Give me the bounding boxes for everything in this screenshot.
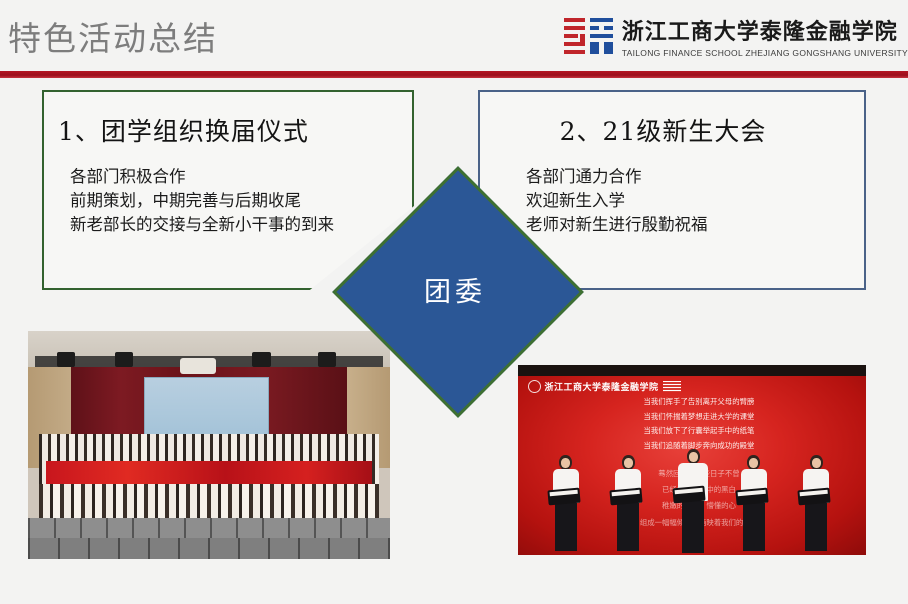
logo-text: 浙江工商大学泰隆金融学院 TAILONG FINANCE SCHOOL ZHEJ…: [622, 14, 908, 58]
projector: [180, 358, 216, 374]
box-2-line-3: 老师对新生进行殷勤祝福: [526, 213, 708, 237]
performer: [553, 455, 579, 551]
photo-group-ceremony: [28, 331, 390, 559]
page-title: 特色活动总结: [8, 12, 218, 60]
logo-mark-icon: [563, 14, 615, 58]
backdrop-poem: 当我们挥手了告别离开父母的臂膀 当我们怀揣着梦想走进大学的课堂 当我们放下了行囊…: [574, 395, 825, 453]
stage-lamp: [57, 352, 75, 368]
box-2-heading: 2、21级新生大会: [478, 112, 848, 148]
box-2-line-1: 各部门通力合作: [526, 165, 708, 189]
content-box-1-text: 1、团学组织换届仪式 各部门积极合作 前期策划，中期完善与后期收尾 新老部长的交…: [42, 90, 410, 286]
logo-title-cn: 浙江工商大学泰隆金融学院: [622, 14, 908, 46]
poem-line-3: 当我们放下了行囊举起手中的纸笔: [574, 424, 825, 438]
header-divider: [0, 71, 908, 78]
box-1-heading: 1、团学组织换届仪式: [58, 112, 309, 148]
performer: [803, 455, 829, 551]
auditorium-scene: [28, 331, 390, 559]
box-1-lines: 各部门积极合作 前期策划，中期完善与后期收尾 新老部长的交接与全新小干事的到来: [70, 165, 334, 237]
backdrop-logo-square-icon: [663, 381, 681, 392]
stage-lamp: [115, 352, 133, 368]
poem-line-2: 当我们怀揣着梦想走进大学的课堂: [574, 410, 825, 424]
poem-line-1: 当我们挥手了告别离开父母的臂膀: [574, 395, 825, 409]
school-logo: 浙江工商大学泰隆金融学院 TAILONG FINANCE SCHOOL ZHEJ…: [563, 8, 908, 64]
stage-scene: 浙江工商大学泰隆金融学院 当我们挥手了告别离开父母的臂膀 当我们怀揣着梦想走进大…: [518, 365, 866, 555]
performer: [678, 449, 708, 553]
box-1-line-1: 各部门积极合作: [70, 165, 334, 189]
box-1-line-3: 新老部长的交接与全新小干事的到来: [70, 213, 334, 237]
slide-header: 特色活动总结: [0, 0, 908, 72]
performer: [615, 455, 641, 551]
performer: [741, 455, 767, 551]
box-2-lines: 各部门通力合作 欢迎新生入学 老师对新生进行殷勤祝福: [526, 165, 708, 237]
backdrop-logo-text: 浙江工商大学泰隆金融学院: [544, 380, 658, 393]
backdrop-logo: 浙江工商大学泰隆金融学院: [528, 380, 681, 393]
stage-lamp: [252, 352, 270, 368]
stage-top-bar: [518, 365, 866, 376]
backdrop-logo-mark-icon: [528, 380, 541, 393]
center-diamond-label: 团委: [369, 203, 541, 375]
photo-freshman-assembly: 浙江工商大学泰隆金融学院 当我们挥手了告别离开父母的臂膀 当我们怀揣着梦想走进大…: [518, 365, 866, 555]
logo-title-en: TAILONG FINANCE SCHOOL ZHEJIANG GONGSHAN…: [622, 48, 908, 58]
red-flag: [46, 461, 372, 486]
stage-lamp: [318, 352, 336, 368]
box-1-line-2: 前期策划，中期完善与后期收尾: [70, 189, 334, 213]
crowd-front-row: [39, 484, 379, 523]
auditorium-seats-front: [28, 538, 390, 559]
box-2-line-2: 欢迎新生入学: [526, 189, 708, 213]
slide-canvas: 特色活动总结: [0, 0, 908, 604]
